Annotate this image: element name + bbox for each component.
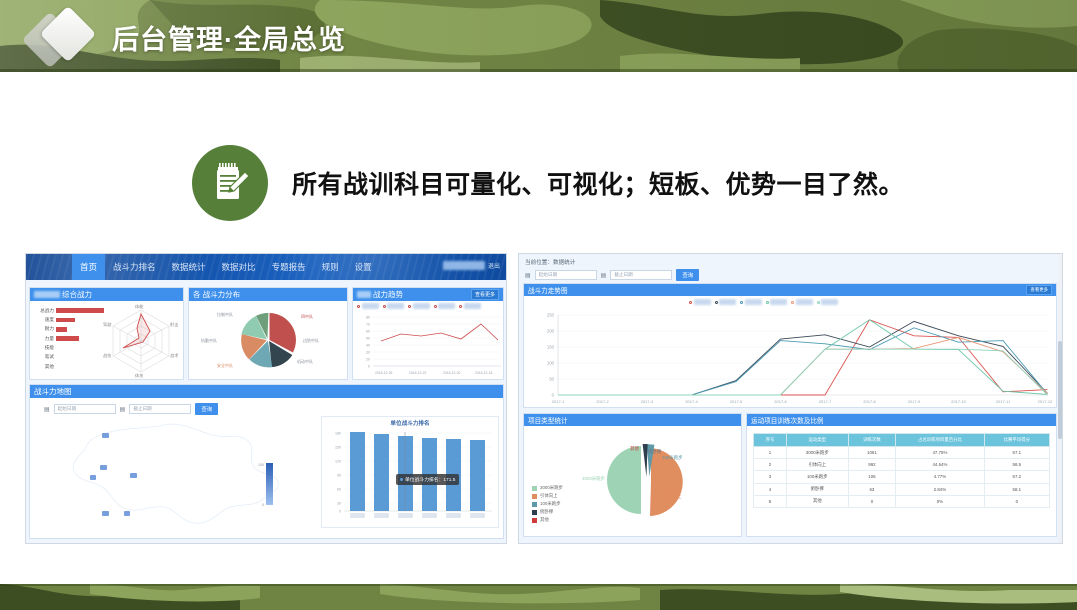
table-row: 1 3000米跑步 1061 47.75% 57.1 bbox=[754, 447, 1050, 459]
tooltip-text: 单位战斗力排名：171.5 bbox=[405, 476, 455, 483]
app-logo bbox=[28, 8, 102, 68]
cell: 44.64% bbox=[896, 459, 985, 471]
cell: 57.1 bbox=[984, 447, 1049, 459]
legend-label: 引体向上 bbox=[540, 493, 558, 499]
legend-label: 其他 bbox=[540, 517, 549, 523]
panel-strength-distribution-header: 各 战斗力分布 bbox=[189, 288, 347, 301]
table-header-row: 序号 运动类型 训练次数 占总训练项目量百分比 比赛平均得分 bbox=[754, 434, 1050, 447]
x-tick: 2017-1 bbox=[552, 399, 565, 404]
rank-bars bbox=[350, 432, 485, 511]
panel-combat-trend: 战斗力走势图 查看更多 bbox=[523, 283, 1057, 408]
panel-strength-map: 战斗力地图 ▤ 起始日期 ▤ 截止日期 查询 bbox=[29, 384, 504, 539]
rank-y-tick: 0 bbox=[339, 510, 341, 514]
pie-slice-label: 四中队 bbox=[301, 313, 313, 319]
cell: 0 bbox=[984, 495, 1049, 507]
calendar-icon: ▤ bbox=[44, 406, 50, 413]
map-visualization[interactable]: 100 0 bbox=[30, 415, 318, 530]
combat-trend-legend-redacted bbox=[689, 299, 838, 305]
panel-project-type-body: 3000米跑步 引体向上 100米跑步 俯卧撑 其他 3000米跑步 引体向上 … bbox=[524, 426, 741, 535]
nav-item-home[interactable]: 首页 bbox=[72, 254, 105, 280]
bar-label: 耐力 bbox=[34, 326, 54, 332]
distribution-pie-chart: 四中队 边防中队 机动中队 安全中队 执勤中队 拉制中队 bbox=[193, 301, 343, 379]
x-tick: 2017-2 bbox=[596, 399, 609, 404]
panel-comprehensive-strength-title: 综合战力 bbox=[62, 289, 92, 300]
rank-y-tick: 30 bbox=[337, 502, 341, 506]
x-tick: 2016-12-22 bbox=[409, 371, 426, 375]
pie-slice-label: 执勤中队 bbox=[201, 337, 217, 343]
cell: 0% bbox=[896, 495, 985, 507]
panel-strength-map-title: 战斗力地图 bbox=[34, 386, 72, 397]
footer-camo-pattern bbox=[0, 584, 1077, 610]
pie-slice-label: 其他 bbox=[630, 445, 639, 452]
cell: 58.1 bbox=[984, 483, 1049, 495]
x-tick: 2017-10 bbox=[951, 399, 966, 404]
map-marker bbox=[90, 475, 96, 480]
rank-bar bbox=[470, 440, 485, 511]
y-tick: 250 bbox=[547, 313, 555, 318]
panel-combat-trend-header: 战斗力走势图 查看更多 bbox=[524, 284, 1056, 296]
panel-strength-map-header: 战斗力地图 bbox=[30, 385, 503, 398]
calendar-icon: ▤ bbox=[120, 406, 126, 413]
pie-slice-label: 边防中队 bbox=[303, 337, 319, 343]
bar-row-written: 笔试 bbox=[34, 354, 104, 361]
col-score: 比赛平均得分 bbox=[984, 434, 1049, 447]
project-type-legend: 3000米跑步 引体向上 100米跑步 俯卧撑 其他 bbox=[532, 485, 563, 525]
cell: 3 bbox=[754, 471, 787, 483]
legend-item: 100米跑步 bbox=[532, 501, 563, 507]
cell: 57.2 bbox=[984, 471, 1049, 483]
tagline-block: 所有战训科目可量化、可视化；短板、优势一目了然。 bbox=[192, 145, 904, 221]
rank-y-tick: 60 bbox=[337, 488, 341, 492]
x-tick: 2017-8 bbox=[863, 399, 876, 404]
unit-ranking-title: 单位战斗力排名 bbox=[322, 417, 498, 427]
rank-y-tick: 150 bbox=[335, 446, 341, 450]
nav-item-report[interactable]: 专题报告 bbox=[264, 254, 314, 280]
bar-row-endurance: 耐力 bbox=[34, 326, 104, 333]
panel-strength-distribution-title: 各 战斗力分布 bbox=[193, 289, 240, 300]
cell: 其他 bbox=[786, 495, 848, 507]
bar-fill bbox=[56, 327, 67, 332]
cell: 俯卧撑 bbox=[786, 483, 848, 495]
x-tick: 2017-3 bbox=[641, 399, 654, 404]
cell: 0 bbox=[848, 495, 895, 507]
cell: 106 bbox=[848, 471, 895, 483]
legend-item: 3000米跑步 bbox=[532, 485, 563, 491]
cell: 63 bbox=[848, 483, 895, 495]
legend-swatch bbox=[532, 494, 537, 499]
strength-bar-list: 总战力 速度 耐力 力量 技能 bbox=[34, 307, 104, 373]
bar-fill bbox=[56, 318, 75, 323]
logout-link[interactable]: 退出 bbox=[488, 261, 500, 270]
trend-legend-redacted bbox=[357, 303, 481, 309]
right-dashboard-screenshot: 当前位置：数据统计 ▤ 起始日期 ▤ 截止日期 查询 战斗力走势图 查看更多 bbox=[518, 253, 1063, 544]
rank-y-tick: 90 bbox=[337, 474, 341, 478]
panel-strength-trend-body: 80 70 60 50 40 30 20 0 2016-12-26 2016-1… bbox=[353, 301, 503, 379]
x-tick: 2017-4 bbox=[685, 399, 698, 404]
panel-strength-distribution-body: 四中队 边防中队 机动中队 安全中队 执勤中队 拉制中队 bbox=[189, 301, 347, 379]
bar-row-other: 其他 bbox=[34, 363, 104, 370]
y-tick: 60 bbox=[366, 330, 370, 334]
stats-date-to-input[interactable]: 截止日期 bbox=[610, 270, 672, 280]
tagline-text: 所有战训科目可量化、可视化；短板、优势一目了然。 bbox=[292, 165, 904, 201]
rank-tooltip: 单位战斗力排名：171.5 bbox=[396, 474, 459, 485]
header-divider bbox=[0, 69, 1077, 72]
pie-slice-label: 拉制中队 bbox=[217, 311, 233, 317]
y-tick: 40 bbox=[366, 344, 370, 348]
radar-axis-label: 体能 bbox=[135, 304, 144, 310]
cell: 47.75% bbox=[896, 447, 985, 459]
bar-row-skill: 技能 bbox=[34, 345, 104, 352]
tooltip-series-dot bbox=[400, 478, 403, 481]
nav-item-comparison[interactable]: 数据对比 bbox=[214, 254, 264, 280]
nav-username-redacted bbox=[443, 261, 485, 270]
col-type: 运动类型 bbox=[786, 434, 848, 447]
panel-strength-trend-header: 战力趋势 查看更多 bbox=[353, 288, 503, 301]
bar-label: 速度 bbox=[34, 317, 54, 323]
map-color-legend: 100 0 bbox=[254, 459, 288, 511]
distribution-pie-wrap: 四中队 边防中队 机动中队 安全中队 执勤中队 拉制中队 bbox=[189, 301, 347, 379]
cell: 4.77% bbox=[896, 471, 985, 483]
stats-date-from-input[interactable]: 起始日期 bbox=[535, 270, 597, 280]
cell: 4 bbox=[754, 483, 787, 495]
cell: 1 bbox=[754, 447, 787, 459]
bar-fill bbox=[56, 336, 79, 341]
panel-project-type-title: 项目类型统计 bbox=[528, 415, 568, 425]
redacted-unit-chip bbox=[34, 291, 60, 298]
panel-training-table-header: 运动项目训练次数及比例 bbox=[747, 414, 1056, 426]
breadcrumb: 当前位置：数据统计 bbox=[519, 254, 1062, 266]
trend-line-chart: 80 70 60 50 40 30 20 0 2016-12-26 2016-1… bbox=[353, 313, 505, 379]
radar-axis-label: 射击 bbox=[170, 321, 178, 328]
rank-y-tick: 120 bbox=[335, 460, 341, 464]
bar-label: 总战力 bbox=[34, 308, 54, 314]
y-tick: 150 bbox=[547, 345, 555, 350]
panel-combat-trend-title: 战斗力走势图 bbox=[528, 285, 568, 295]
series-line-dark bbox=[558, 321, 1048, 395]
panel-project-type: 项目类型统计 3000米跑步 引体向上 100米跑步 俯卧撑 其他 bbox=[523, 413, 742, 537]
map-filter-row: ▤ 起始日期 ▤ 截止日期 查询 bbox=[30, 398, 503, 415]
pie-slice-label: 3000米跑步 bbox=[582, 475, 606, 482]
pie-slice-label: 引体向上 bbox=[664, 493, 682, 500]
page-title: 后台管理·全局总览 bbox=[112, 18, 346, 57]
y-tick: 30 bbox=[366, 351, 370, 355]
pie-slice-label: 安全中队 bbox=[217, 362, 233, 368]
panel-strength-distribution: 各 战斗力分布 四中队 边防中队 机动中队 bbox=[188, 287, 348, 380]
view-more-button[interactable]: 查看更多 bbox=[471, 289, 499, 300]
y-tick: 0 bbox=[552, 393, 555, 398]
y-tick: 0 bbox=[368, 365, 370, 369]
combat-trend-line-chart: 250 200 150 100 50 0 2017-1 2017-2 2017 bbox=[524, 309, 1058, 407]
pie-slice-label: 俯卧撑 bbox=[648, 448, 662, 455]
rank-bar bbox=[350, 432, 365, 511]
panel-training-table-title: 运动项目训练次数及比例 bbox=[751, 415, 824, 425]
panel-strength-map-body: ▤ 起始日期 ▤ 截止日期 查询 bbox=[30, 398, 503, 538]
cell: 992 bbox=[848, 459, 895, 471]
page-footer bbox=[0, 584, 1077, 610]
y-tick: 50 bbox=[549, 377, 554, 382]
unit-ranking-chart-box: 单位战斗力排名 180 150 120 90 60 30 bbox=[321, 416, 499, 528]
training-statistics-table: 序号 运动类型 训练次数 占总训练项目量百分比 比赛平均得分 1 3000米跑步… bbox=[753, 433, 1050, 508]
table-row: 3 100米跑步 106 4.77% 57.2 bbox=[754, 471, 1050, 483]
rank-y-tick: 180 bbox=[335, 432, 341, 436]
panel-comprehensive-strength: 综合战力 总战力 速度 耐力 力量 bbox=[29, 287, 184, 380]
panel-training-table-body: 序号 运动类型 训练次数 占总训练项目量百分比 比赛平均得分 1 3000米跑步… bbox=[747, 433, 1056, 542]
panel-comprehensive-strength-header: 综合战力 bbox=[30, 288, 183, 301]
panel-strength-trend-title: 战力趋势 bbox=[373, 289, 403, 300]
legend-label: 100米跑步 bbox=[540, 501, 561, 507]
table-row: 4 俯卧撑 63 2.84% 58.1 bbox=[754, 483, 1050, 495]
legend-item: 引体向上 bbox=[532, 493, 563, 499]
calendar-icon: ▤ bbox=[601, 272, 607, 279]
map-date-from-input[interactable]: 起始日期 bbox=[54, 404, 116, 414]
nav-user-area[interactable]: 退出 bbox=[443, 261, 500, 270]
cell: 5 bbox=[754, 495, 787, 507]
map-marker bbox=[102, 433, 109, 438]
map-marker bbox=[102, 511, 109, 516]
panel-strength-trend: 战力趋势 查看更多 80 70 bbox=[352, 287, 504, 380]
legend-item: 其他 bbox=[532, 517, 563, 523]
left-dashboard-screenshot: 首页 战斗力排名 数据统计 数据对比 专题报告 规则 设置 退出 综合战力 总战… bbox=[25, 253, 507, 544]
map-date-to-input[interactable]: 截止日期 bbox=[129, 404, 191, 414]
x-tick: 2017-7 bbox=[819, 399, 832, 404]
nav-item-settings[interactable]: 设置 bbox=[347, 254, 380, 280]
x-tick: 2016-12-26 bbox=[375, 371, 392, 375]
x-tick: 2017-5 bbox=[730, 399, 743, 404]
cell: 100米跑步 bbox=[786, 471, 848, 483]
bar-label: 笔试 bbox=[34, 354, 54, 360]
calendar-icon: ▤ bbox=[525, 272, 531, 279]
table-row: 5 其他 0 0% 0 bbox=[754, 495, 1050, 507]
map-query-button[interactable]: 查询 bbox=[195, 403, 218, 415]
x-tick: 2017-9 bbox=[908, 399, 921, 404]
legend-max-label: 100 bbox=[258, 463, 264, 467]
x-tick: 2017-6 bbox=[774, 399, 787, 404]
notepad-pencil-icon bbox=[192, 145, 268, 221]
legend-swatch bbox=[532, 510, 537, 515]
x-tick: 2016-12-20 bbox=[443, 371, 460, 375]
y-tick: 100 bbox=[547, 361, 555, 366]
rank-bar bbox=[374, 434, 389, 511]
stats-query-button[interactable]: 查询 bbox=[676, 269, 699, 281]
legend-min-label: 0 bbox=[262, 503, 264, 507]
radar-axis-label: 战术 bbox=[170, 352, 179, 359]
panel-comprehensive-strength-body: 总战力 速度 耐力 力量 技能 bbox=[30, 301, 183, 379]
footer-divider bbox=[0, 584, 1077, 586]
y-tick: 80 bbox=[366, 316, 370, 320]
legend-swatch bbox=[532, 502, 537, 507]
radar-axis-label: 体技 bbox=[135, 372, 144, 378]
bar-row-speed: 速度 bbox=[34, 316, 104, 323]
legend-label: 3000米跑步 bbox=[540, 485, 563, 491]
bar-fill bbox=[56, 308, 104, 313]
cell: 58.5 bbox=[984, 459, 1049, 471]
y-tick: 70 bbox=[366, 323, 370, 327]
bar-label: 力量 bbox=[34, 336, 54, 342]
radar-axis-label: 驾驶 bbox=[103, 321, 112, 328]
pie-slice-label: 机动中队 bbox=[297, 358, 313, 364]
map-marker bbox=[100, 465, 107, 470]
x-tick: 2017-12 bbox=[1038, 399, 1053, 404]
series-line-salmon bbox=[558, 337, 1048, 395]
redacted-unit-chip bbox=[357, 291, 371, 298]
x-tick: 2017-11 bbox=[996, 399, 1011, 404]
series-line-teal bbox=[558, 328, 1048, 395]
table-row: 2 引体向上 992 44.64% 58.5 bbox=[754, 459, 1050, 471]
cell: 3000米跑步 bbox=[786, 447, 848, 459]
cell: 2.84% bbox=[896, 483, 985, 495]
cell: 1061 bbox=[848, 447, 895, 459]
dashboard-navbar: 首页 战斗力排名 数据统计 数据对比 专题报告 规则 设置 退出 bbox=[26, 254, 506, 280]
y-tick: 20 bbox=[366, 358, 370, 362]
map-marker bbox=[124, 511, 130, 516]
trend-view-more-button[interactable]: 查看更多 bbox=[1026, 285, 1052, 295]
nav-item-rules[interactable]: 规则 bbox=[314, 254, 347, 280]
nav-item-statistics[interactable]: 数据统计 bbox=[164, 254, 214, 280]
legend-label: 俯卧撑 bbox=[540, 509, 553, 515]
radar-axis-label: 战伤 bbox=[103, 352, 111, 359]
panel-combat-trend-body: 250 200 150 100 50 0 2017-1 2017-2 2017 bbox=[524, 296, 1056, 406]
legend-item: 俯卧撑 bbox=[532, 509, 563, 515]
legend-swatch bbox=[532, 486, 537, 491]
col-index: 序号 bbox=[754, 434, 787, 447]
y-tick: 50 bbox=[366, 337, 370, 341]
panel-project-type-header: 项目类型统计 bbox=[524, 414, 741, 426]
nav-items: 首页 战斗力排名 数据统计 数据对比 专题报告 规则 设置 bbox=[26, 254, 506, 280]
bar-row-total: 总战力 bbox=[34, 307, 104, 314]
panel-training-table: 运动项目训练次数及比例 序号 运动类型 训练次数 占总训练项目量百分比 比赛平均… bbox=[746, 413, 1057, 537]
bar-label: 其他 bbox=[34, 364, 54, 370]
col-count: 训练次数 bbox=[848, 434, 895, 447]
pie-slice-label: 100米跑步 bbox=[662, 454, 683, 461]
scrollbar-thumb[interactable] bbox=[1058, 341, 1062, 439]
y-tick: 200 bbox=[547, 329, 555, 334]
bar-row-power: 力量 bbox=[34, 335, 104, 342]
map-marker bbox=[130, 473, 137, 478]
cell: 引体向上 bbox=[786, 459, 848, 471]
page-header: 后台管理·全局总览 bbox=[0, 0, 1077, 72]
col-percent: 占总训练项目量百分比 bbox=[896, 434, 985, 447]
nav-item-ranking[interactable]: 战斗力排名 bbox=[105, 254, 164, 280]
legend-swatch bbox=[532, 518, 537, 523]
radar-chart: 体能 射击 战术 体技 战伤 驾驶 bbox=[103, 304, 179, 378]
bar-label: 技能 bbox=[34, 345, 54, 351]
x-tick: 2016-12-18 bbox=[475, 371, 492, 375]
cell: 2 bbox=[754, 459, 787, 471]
scrollbar-track[interactable] bbox=[1058, 254, 1062, 543]
